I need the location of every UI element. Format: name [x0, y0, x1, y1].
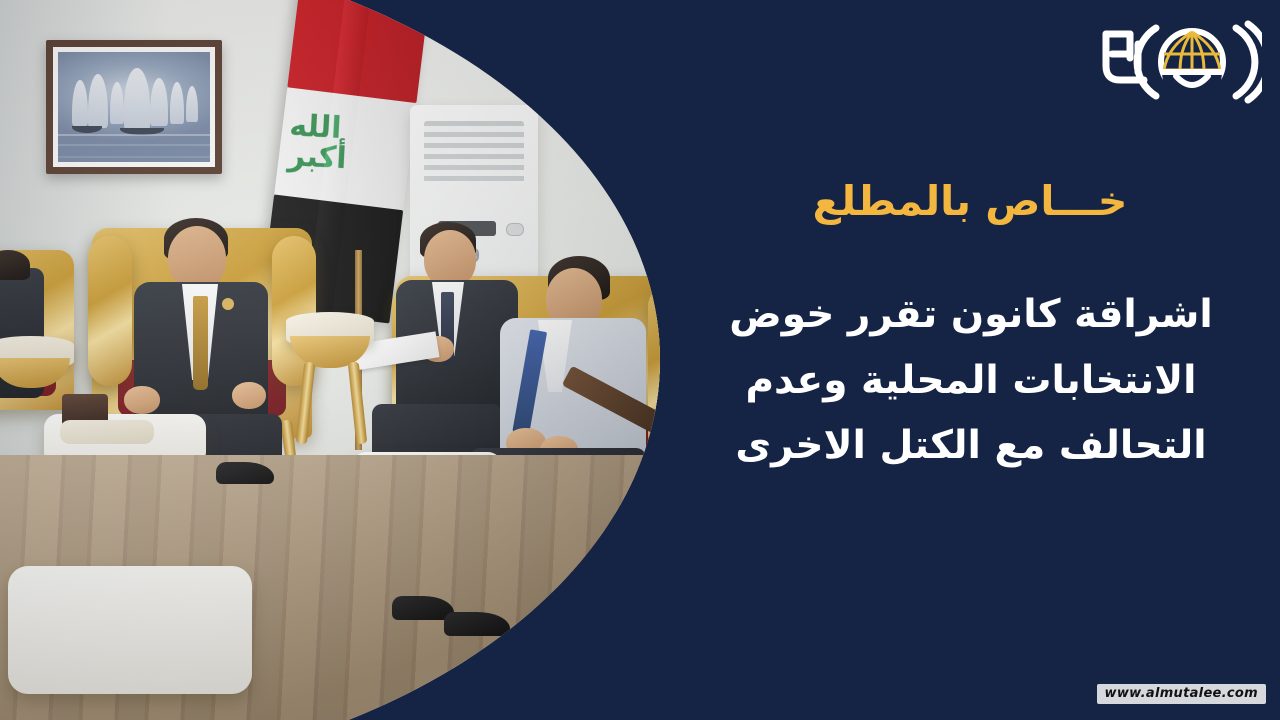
wall-painting [46, 40, 222, 174]
headline-line-2: الانتخابات المحلية وعدم [676, 348, 1266, 414]
kicker-label: خـــاص بالمطلع [690, 178, 1250, 225]
headline: اشراقة كانون تقرر خوض الانتخابات المحلية… [676, 282, 1266, 479]
news-card: الله أكبر 179 [0, 0, 1280, 720]
headline-line-3: التحالف مع الكتل الاخرى [676, 413, 1266, 479]
photo-scene: الله أكبر 179 [0, 0, 680, 720]
site-watermark[interactable]: www.almutalee.com [1097, 684, 1266, 704]
headline-line-1: اشراقة كانون تقرر خوض [676, 282, 1266, 348]
text-column: خـــاص بالمطلع اشراقة كانون تقرر خوض الا… [660, 0, 1280, 720]
photo-panel: الله أكبر 179 [0, 0, 680, 720]
painting-canvas [58, 52, 210, 162]
